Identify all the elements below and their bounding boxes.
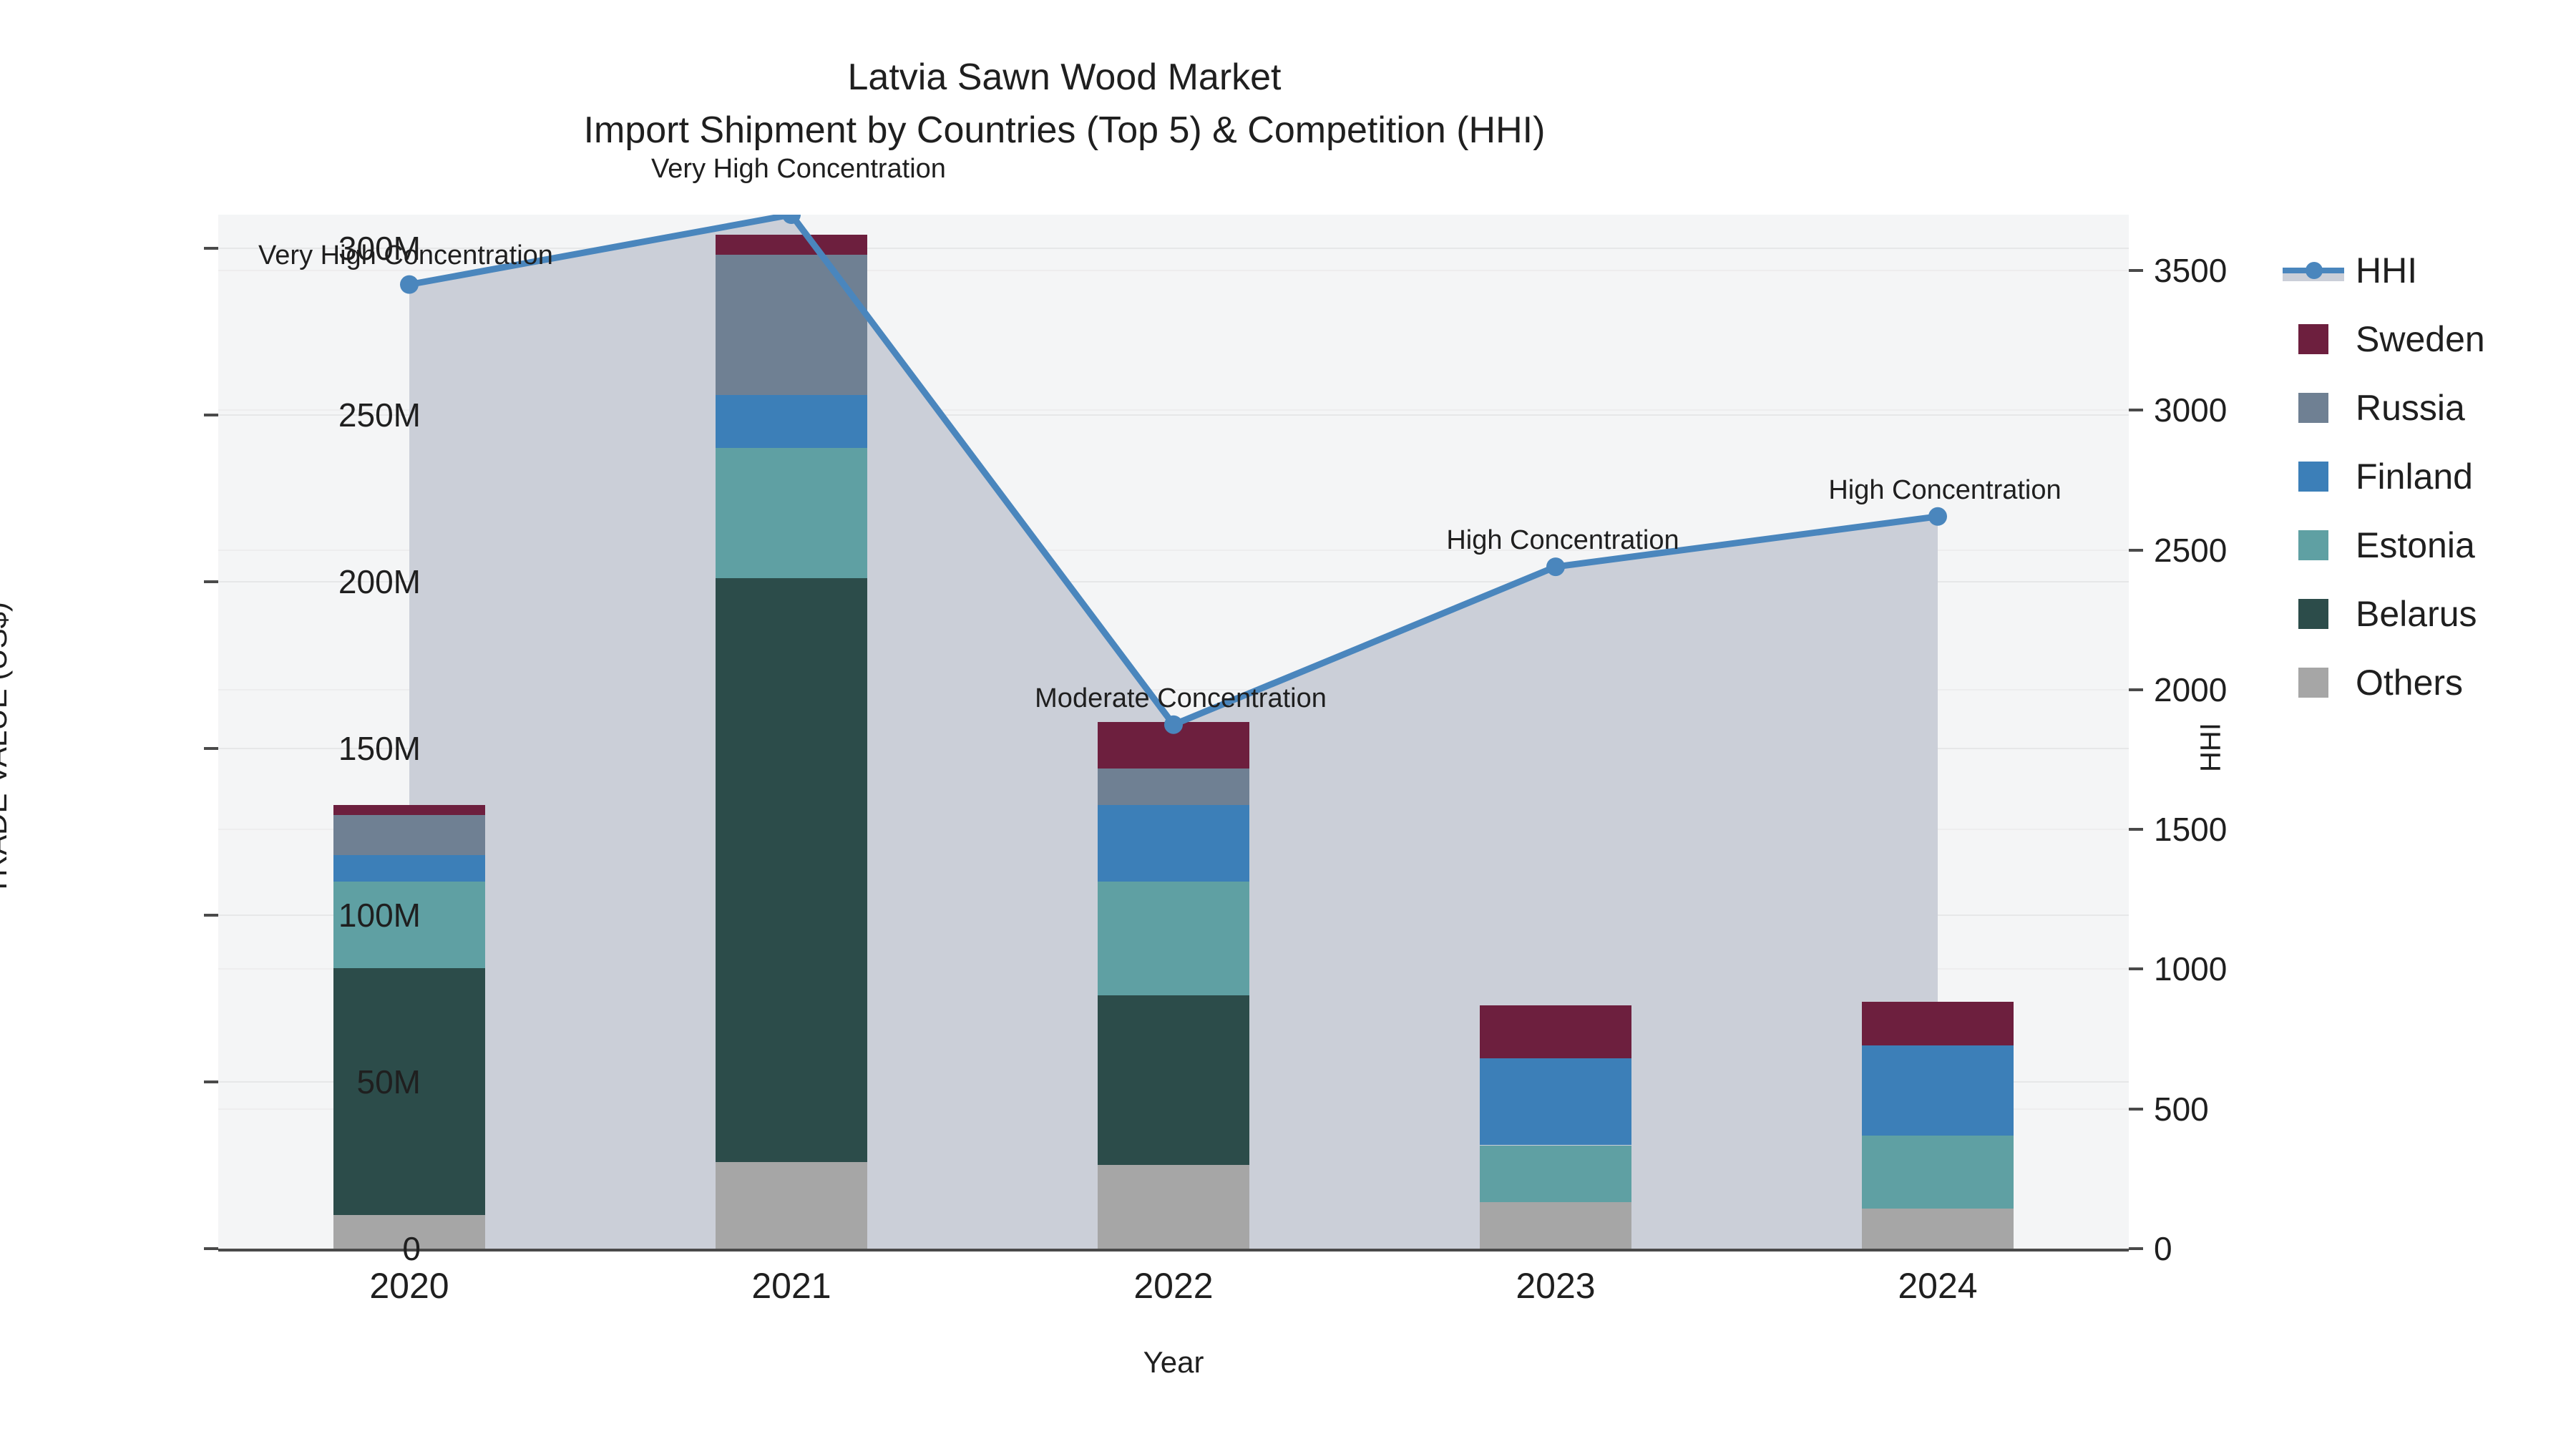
chart-title: Latvia Sawn Wood Market [0,52,2129,104]
hhi-annotation: High Concentration [1446,525,1679,556]
x-axis-label: Year [218,1345,2129,1380]
legend-item-russia[interactable]: Russia [2283,374,2569,442]
x-axis-tick-2023: 2023 [1413,1265,1699,1307]
y-axis-left-tick: 0 [235,1229,421,1268]
legend-item-belarus[interactable]: Belarus [2283,580,2569,648]
x-axis-tick-2024: 2024 [1795,1265,2081,1307]
chart-title-block: Latvia Sawn Wood Market Import Shipment … [0,52,2129,157]
y-axis-right-tick: 1000 [2154,950,2340,988]
legend-item-estonia[interactable]: Estonia [2283,511,2569,580]
hhi-marker[interactable] [1164,716,1183,734]
legend: HHISwedenRussiaFinlandEstoniaBelarusOthe… [2283,236,2569,717]
y-axis-right-tick: 500 [2154,1090,2340,1128]
y-axis-right-tickmark [2129,1108,2143,1111]
y-axis-right-tickmark [2129,269,2143,272]
hhi-line-layer [218,215,2129,1249]
legend-line-icon [2283,255,2344,286]
x-axis-tick-2021: 2021 [648,1265,935,1307]
y-axis-left-tickmark [204,1247,218,1250]
hhi-line [409,215,1938,725]
legend-swatch-icon [2298,393,2328,423]
y-axis-left-tickmark [204,747,218,750]
x-axis-tick-2020: 2020 [266,1265,552,1307]
y-axis-left-tick: 300M [235,229,421,268]
y-axis-right-tickmark [2129,828,2143,831]
x-axis-tick-2022: 2022 [1030,1265,1317,1307]
y-axis-left-tick: 50M [235,1063,421,1101]
hhi-marker[interactable] [1928,507,1947,526]
y-axis-left-tickmark [204,914,218,917]
legend-label: Estonia [2356,527,2475,563]
legend-swatch-icon [2298,462,2328,492]
legend-item-finland[interactable]: Finland [2283,442,2569,511]
y-axis-right-tickmark [2129,549,2143,552]
legend-item-hhi[interactable]: HHI [2283,236,2569,305]
y-axis-right-tick: 1500 [2154,810,2340,849]
legend-label: Sweden [2356,321,2485,357]
hhi-marker[interactable] [1546,557,1565,576]
y-axis-right-tick: 0 [2154,1229,2340,1268]
legend-item-sweden[interactable]: Sweden [2283,305,2569,374]
legend-label: Russia [2356,390,2465,426]
y-axis-left-tickmark [204,580,218,583]
y-axis-left-tick: 200M [235,562,421,601]
legend-label: Belarus [2356,596,2477,632]
y-axis-right-tickmark [2129,1247,2143,1250]
legend-label: HHI [2356,253,2417,288]
y-axis-left-label: TRADE VALUE (US$) [0,391,14,1106]
legend-item-others[interactable]: Others [2283,648,2569,717]
y-axis-right-tickmark [2129,688,2143,691]
legend-swatch-icon [2298,599,2328,629]
y-axis-left-tick: 150M [235,729,421,768]
hhi-marker[interactable] [400,275,419,294]
y-axis-right-tickmark [2129,409,2143,411]
legend-swatch-icon [2298,324,2328,354]
hhi-annotation: Very High Concentration [651,154,946,185]
y-axis-left-tickmark [204,1080,218,1083]
y-axis-right-tickmark [2129,967,2143,970]
y-axis-left-tick: 250M [235,396,421,434]
hhi-annotation: High Concentration [1828,475,2061,506]
y-axis-left-tickmark [204,414,218,416]
legend-label: Finland [2356,459,2473,494]
plot-inner: Very High ConcentrationVery High Concent… [218,215,2129,1249]
y-axis-left-tick: 100M [235,896,421,935]
x-axis-line [218,1249,2129,1252]
legend-label: Others [2356,665,2463,701]
plot-area: Very High ConcentrationVery High Concent… [218,215,2129,1249]
y-axis-left-tickmark [204,247,218,250]
legend-swatch-icon [2298,668,2328,698]
y-axis-right-label: HHI [2195,640,2228,855]
chart-subtitle: Import Shipment by Countries (Top 5) & C… [0,104,2129,157]
hhi-annotation: Moderate Concentration [1035,683,1327,714]
legend-swatch-icon [2298,530,2328,560]
